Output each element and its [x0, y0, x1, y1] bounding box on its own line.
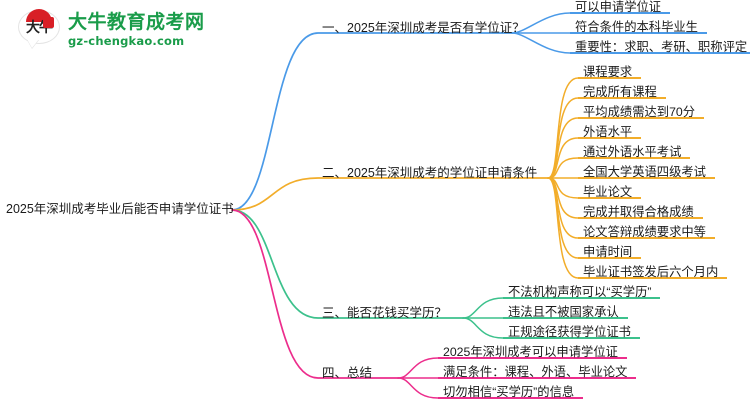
logo-title: 大牛教育成考网: [68, 13, 205, 32]
mindmap-branch-node[interactable]: 一、2025年深圳成考是否有学位证？: [322, 17, 525, 36]
mindmap-branch-node[interactable]: 二、2025年深圳成考的学位证申请条件: [322, 162, 537, 181]
mindmap-leaf-node[interactable]: 外语水平: [583, 122, 632, 140]
mindmap-leaf-node[interactable]: 切勿相信“买学历”的信息: [443, 382, 574, 400]
connector-line: [512, 33, 570, 53]
mindmap-leaf-node[interactable]: 毕业证书签发后六个月内: [583, 262, 718, 280]
connector-line: [548, 178, 578, 198]
connector-line: [463, 298, 503, 318]
logo-mark-dot: [43, 17, 54, 28]
connector-line: [548, 178, 578, 258]
logo-bubble-icon: 大牛: [18, 10, 60, 50]
mindmap-leaf-node[interactable]: 符合条件的本科毕业生: [575, 17, 698, 35]
mindmap-leaf-node[interactable]: 正规途径获得学位证书: [508, 322, 631, 340]
mindmap-leaf-node[interactable]: 满足条件：课程、外语、毕业论文: [443, 362, 627, 380]
mindmap-leaf-node[interactable]: 可以申请学位证: [575, 0, 661, 15]
connector-line: [548, 98, 578, 178]
mindmap-branch-node[interactable]: 三、能否花钱买学历？: [322, 302, 447, 321]
mindmap-leaf-node[interactable]: 通过外语水平考试: [583, 142, 681, 160]
connector-line: [232, 210, 398, 378]
mindmap-leaf-node[interactable]: 论文答辩成绩要求中等: [583, 222, 706, 240]
connector-line: [463, 318, 503, 338]
connector-line: [232, 33, 512, 210]
connector-line: [398, 358, 438, 378]
connector-line: [232, 178, 548, 210]
mindmap-leaf-node[interactable]: 课程要求: [583, 62, 632, 80]
connector-line: [548, 178, 578, 238]
connector-line: [548, 138, 578, 178]
bubble-tail-shape: [27, 39, 39, 48]
mindmap-leaf-node[interactable]: 全国大学英语四级考试: [583, 162, 706, 180]
connector-line: [548, 118, 578, 178]
logo-words: 大牛教育成考网 gz-chengkao.com: [68, 13, 205, 48]
mindmap-leaf-node[interactable]: 不法机构声称可以“买学历”: [508, 282, 651, 300]
mindmap-leaf-node[interactable]: 平均成绩需达到70分: [583, 102, 695, 120]
connector-line: [548, 178, 578, 278]
mindmap-branch-node[interactable]: 四、总结: [322, 362, 372, 381]
mindmap-root-node[interactable]: 2025年深圳成考毕业后能否申请学位证书: [6, 198, 234, 217]
mindmap-leaf-node[interactable]: 完成并取得合格成绩: [583, 202, 694, 220]
site-logo: 大牛 大牛教育成考网 gz-chengkao.com: [18, 10, 205, 50]
connector-line: [548, 78, 578, 178]
mindmap-leaf-node[interactable]: 申请时间: [583, 242, 632, 260]
mindmap-leaf-node[interactable]: 毕业论文: [583, 182, 632, 200]
mindmap-canvas: 大牛 大牛教育成考网 gz-chengkao.com 2025年深圳成考毕业后能…: [0, 0, 750, 410]
mindmap-leaf-node[interactable]: 2025年深圳成考可以申请学位证: [443, 342, 618, 360]
mindmap-leaf-node[interactable]: 违法且不被国家承认: [508, 302, 619, 320]
logo-url: gz-chengkao.com: [68, 36, 205, 48]
connector-line: [548, 158, 578, 178]
connector-line: [548, 178, 578, 218]
mindmap-leaf-node[interactable]: 重要性：求职、考研、职称评定: [575, 37, 747, 55]
mindmap-leaf-node[interactable]: 完成所有课程: [583, 82, 657, 100]
connector-line: [398, 378, 438, 398]
